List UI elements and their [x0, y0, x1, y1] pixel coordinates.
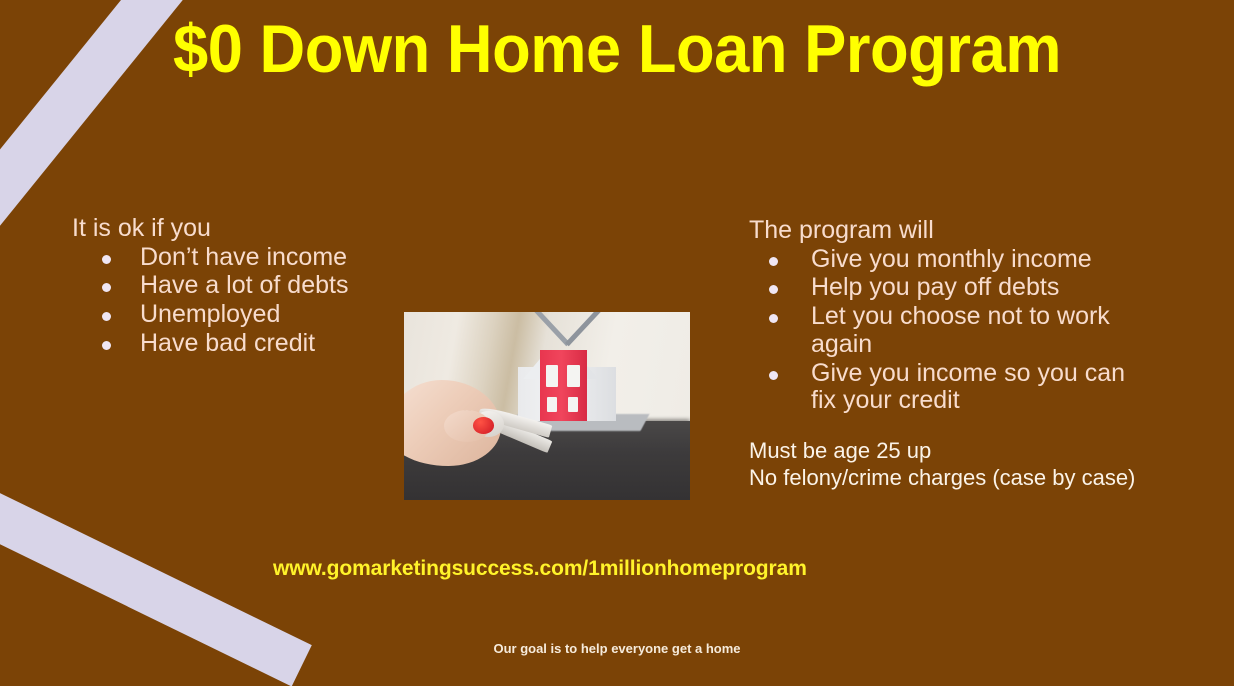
requirement-record: No felony/crime charges (case by case): [749, 464, 1149, 491]
list-item: Don’t have income: [74, 244, 444, 272]
list-item-label: Unemployed: [140, 300, 280, 328]
photo-red-nail: [473, 417, 494, 434]
list-item: Give you income so you can fix your cred…: [749, 360, 1149, 416]
list-item-label: Let you choose not to work again: [811, 302, 1110, 358]
list-item-label: Have bad credit: [140, 329, 315, 357]
bullet-dot-icon: [102, 283, 111, 292]
footer-tagline: Our goal is to help everyone get a home: [0, 641, 1234, 656]
photo-house-window: [567, 365, 580, 388]
list-item: Have bad credit: [74, 330, 444, 358]
requirement-age: Must be age 25 up: [749, 437, 1149, 464]
right-column: The program will Give you monthly income…: [749, 216, 1149, 416]
list-item-label: Give you monthly income: [811, 245, 1092, 273]
photo-house-window: [547, 397, 557, 412]
left-column-bullet-list: Don’t have income Have a lot of debts Un…: [74, 244, 444, 358]
bullet-dot-icon: [102, 312, 111, 321]
list-item-label: Have a lot of debts: [140, 271, 348, 299]
list-item: Give you monthly income: [749, 246, 1149, 274]
bullet-dot-icon: [102, 255, 111, 264]
slide-canvas: $0 Down Home Loan Program It is ok if yo…: [0, 0, 1234, 686]
left-column-heading: It is ok if you: [74, 214, 444, 244]
photo-house-window: [568, 397, 578, 412]
list-item-label: Don’t have income: [140, 243, 347, 271]
list-item-label: Help you pay off debts: [811, 273, 1059, 301]
list-item: Unemployed: [74, 301, 444, 329]
bullet-dot-icon: [769, 314, 778, 323]
bullet-dot-icon: [769, 285, 778, 294]
bullet-dot-icon: [102, 341, 111, 350]
page-title: $0 Down Home Loan Program: [43, 8, 1191, 91]
list-item-label: Give you income so you can fix your cred…: [811, 359, 1125, 415]
requirements-block: Must be age 25 up No felony/crime charge…: [749, 437, 1149, 492]
right-column-heading: The program will: [749, 216, 1149, 246]
photo-house-window: [546, 365, 559, 388]
bullet-dot-icon: [769, 371, 778, 380]
list-item: Let you choose not to work again: [749, 303, 1149, 359]
bullet-dot-icon: [769, 257, 778, 266]
list-item: Have a lot of debts: [74, 272, 444, 300]
left-column: It is ok if you Don’t have income Have a…: [74, 214, 444, 359]
list-item: Help you pay off debts: [749, 274, 1149, 302]
right-column-bullet-list: Give you monthly income Help you pay off…: [749, 246, 1149, 416]
program-url-link[interactable]: www.gomarketingsuccess.com/1millionhomep…: [273, 557, 807, 581]
house-keys-photo: [404, 312, 690, 500]
